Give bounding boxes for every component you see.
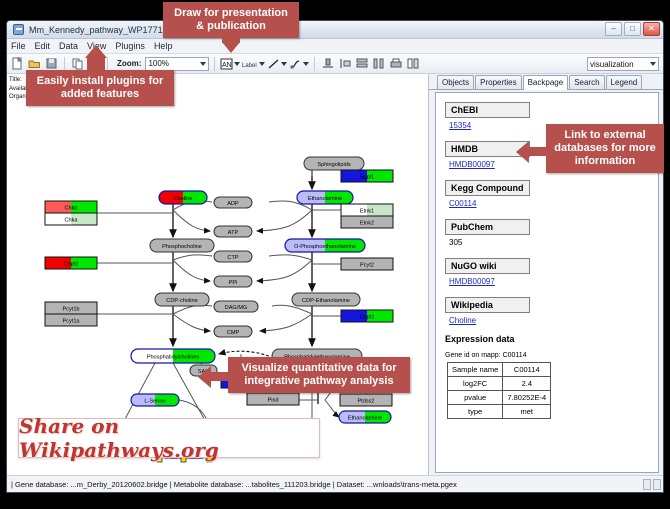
node-label: CDP-Ethanolamine — [302, 298, 350, 304]
maximize-button[interactable]: □ — [624, 22, 641, 36]
node-label: L-Serine — [144, 399, 165, 405]
db-section-value: 305 — [449, 238, 649, 247]
table-cell-key: log2FC — [448, 377, 503, 391]
tab-legend[interactable]: Legend — [606, 75, 643, 89]
zoom-combobox[interactable]: 100% — [145, 57, 209, 71]
node-label: Chkb — [64, 206, 77, 212]
expression-table: Sample nameC00114log2FC2.4pvalue7.80252E… — [447, 362, 551, 419]
zoom-value: 100% — [148, 59, 168, 68]
side-tabs: Objects Properties Backpage Search Legen… — [429, 74, 663, 90]
node-label: Chka — [64, 218, 78, 224]
node-label: Ethanolamine — [348, 416, 382, 422]
pathway-metabolite-node[interactable]: Sphingolipids — [304, 157, 364, 170]
distribute-icon[interactable] — [371, 56, 386, 71]
toolbar-separator-3 — [214, 57, 215, 71]
pathway-gene-node[interactable]: Pcyt1a — [45, 314, 97, 326]
callout-plugins-arrow — [85, 45, 107, 58]
db-section-header: Wikipedia — [445, 297, 530, 313]
pathway-gene-node[interactable]: Pcyt1b — [45, 302, 97, 314]
pathway-metabolite-node[interactable]: Ethanolamine — [339, 411, 391, 423]
open-icon[interactable] — [27, 56, 42, 71]
chevron-down-icon — [650, 62, 656, 66]
db-section-link[interactable]: C00114 — [449, 199, 649, 208]
app-icon — [13, 24, 24, 35]
db-section-header: PubChem — [445, 219, 530, 235]
screenshot-root: Mm_Kennedy_pathway_WP1771_45176.gpml – □… — [0, 0, 670, 509]
menu-item-data[interactable]: Data — [59, 41, 78, 51]
callout-plugins: Easily install plugins for added feature… — [26, 70, 174, 106]
menu-item-plugins[interactable]: Plugins — [115, 41, 145, 51]
node-label: DAG/MG — [225, 305, 248, 311]
gene-id-on-mapp: Gene id on mapp: C00114 — [445, 352, 649, 359]
table-row: pvalue7.80252E-4 — [448, 391, 551, 405]
visualization-combobox[interactable]: visualization — [587, 57, 659, 71]
pathway-metabolite-node[interactable]: O-Phosphoethanolamine — [285, 239, 365, 252]
pathway-gene-node[interactable]: Sgpl1 — [341, 170, 393, 182]
chevron-down-icon — [259, 62, 265, 66]
status-bar: | Gene database: ...m_Derby_20120602.bri… — [7, 475, 663, 492]
status-box-2 — [653, 479, 661, 490]
pathway-gene-node[interactable]: Chka — [45, 213, 97, 225]
pathway-metabolite-node[interactable]: Choline — [159, 191, 207, 204]
status-indicators — [643, 479, 661, 490]
tab-search[interactable]: Search — [569, 75, 604, 89]
stack-icon[interactable] — [354, 56, 369, 71]
node-label: Pcyt2 — [360, 263, 374, 269]
callout-plugins-stem — [87, 57, 105, 71]
table-cell-value: 7.80252E-4 — [503, 391, 551, 405]
new-icon[interactable] — [10, 56, 25, 71]
pathway-gene-node[interactable]: Cept1 — [341, 310, 393, 322]
pathway-metabolite-node[interactable]: ATP — [214, 226, 252, 237]
svg-text:Label: Label — [242, 63, 257, 69]
pathway-gene-node[interactable]: Pisd — [247, 393, 299, 405]
node-label: Pcyt1b — [62, 307, 79, 313]
node-label: CTP — [227, 255, 238, 261]
align-icon[interactable] — [320, 56, 335, 71]
pathway-metabolite-node[interactable]: ADP — [214, 197, 252, 208]
table-cell-value: C00114 — [503, 363, 551, 377]
pathway-gene-node[interactable]: Etnk1 — [341, 204, 393, 216]
status-box-1 — [643, 479, 651, 490]
node-label: O-Phosphoethanolamine — [294, 244, 356, 250]
node-label: Choline — [174, 196, 193, 202]
node-label: CMP — [227, 330, 240, 336]
db-section-link[interactable]: HMDB00097 — [449, 277, 649, 286]
table-cell-value: 2.4 — [503, 377, 551, 391]
node-label: Chpt1 — [64, 262, 79, 268]
copy-icon[interactable] — [70, 56, 85, 71]
pathway-gene-node[interactable]: Chpt1 — [45, 257, 97, 269]
table-row: Sample nameC00114 — [448, 363, 551, 377]
callout-visualize-arrow — [198, 366, 211, 388]
print-icon[interactable] — [388, 56, 403, 71]
tab-properties[interactable]: Properties — [475, 75, 521, 89]
table-cell-key: pvalue — [448, 391, 503, 405]
label-icon[interactable]: Label — [242, 59, 265, 69]
node-label: Phosphatidylcholines — [147, 355, 200, 361]
pathway-gene-node[interactable]: Etnk2 — [341, 216, 393, 228]
node-label: Sgpl1 — [360, 175, 374, 181]
callout-visualize-stem — [210, 372, 230, 381]
pathway-metabolite-node[interactable]: CDP-choline — [155, 293, 209, 306]
chevron-down-icon — [303, 62, 309, 66]
title-bar: Mm_Kennedy_pathway_WP1771_45176.gpml – □… — [7, 21, 663, 39]
callout-draw-arrow — [222, 42, 240, 53]
callout-links-arrow — [516, 141, 529, 163]
pathway-metabolite-node[interactable]: CMP — [214, 326, 252, 337]
visualization-value: visualization — [590, 60, 634, 69]
pathway-metabolite-node[interactable]: DAG/MG — [214, 301, 258, 312]
table-cell-key: type — [448, 405, 503, 419]
node-label: Etnk2 — [360, 221, 374, 227]
node-label: Sphingolipids — [317, 162, 350, 168]
line-icon[interactable] — [267, 58, 287, 70]
toolbar-separator-2 — [107, 57, 108, 71]
pathway-metabolite-node[interactable]: L-Serine — [131, 394, 179, 406]
node-label: ADP — [227, 201, 239, 207]
node-label: ATP — [228, 230, 239, 236]
db-section-header: NuGO wiki — [445, 258, 530, 274]
node-label: CDP-choline — [166, 298, 197, 304]
pathway-metabolite-node[interactable]: CDP-Ethanolamine — [292, 293, 360, 306]
node-label: Cept1 — [360, 315, 375, 321]
pathway-gene-node[interactable]: Pcyt2 — [341, 258, 393, 270]
node-label: Ethanolamine — [308, 196, 342, 202]
save-icon[interactable] — [44, 56, 59, 71]
node-label: PPi — [229, 280, 238, 286]
pathway-gene-node[interactable]: Chkb — [45, 201, 97, 213]
expression-data-title: Expression data — [445, 334, 649, 344]
menu-item-edit[interactable]: Edit — [35, 41, 51, 51]
anchor-icon[interactable] — [289, 58, 309, 70]
tab-backpage[interactable]: Backpage — [523, 75, 569, 90]
toolbar-separator — [64, 57, 65, 71]
window-controls: – □ ✕ — [605, 22, 660, 36]
zoom-label: Zoom: — [117, 59, 141, 68]
menu-item-help[interactable]: Help — [154, 41, 173, 51]
table-cell-key: Sample name — [448, 363, 503, 377]
tab-objects[interactable]: Objects — [437, 75, 474, 89]
chevron-down-icon — [200, 62, 206, 66]
svg-text:AN: AN — [222, 62, 232, 69]
datanode-icon[interactable]: AN — [220, 58, 240, 70]
callout-visualize: Visualize quantitative data for integrat… — [228, 357, 410, 393]
db-section-header: ChEBI — [445, 102, 530, 118]
db-section-header: Kegg Compound — [445, 180, 530, 196]
callout-draw: Draw for presentation & publication — [163, 2, 299, 38]
node-label: Etnk1 — [360, 209, 374, 215]
pathway-metabolite-node[interactable]: Ethanolamine — [297, 191, 353, 204]
callout-links: Link to external databases for more info… — [546, 124, 664, 173]
layout-icon[interactable] — [405, 56, 420, 71]
node-label: Phosphocholine — [162, 244, 202, 250]
db-section-link[interactable]: Choline — [449, 316, 649, 325]
node-label: Ptdss2 — [357, 399, 374, 405]
table-row: log2FC2.4 — [448, 377, 551, 391]
pathway-metabolite-node[interactable]: Phosphatidylcholines — [131, 349, 215, 363]
chevron-down-icon — [234, 62, 240, 66]
table-row: typemet — [448, 405, 551, 419]
pathway-metabolite-node[interactable]: PPi — [214, 276, 252, 287]
chevron-down-icon — [281, 62, 287, 66]
group-icon[interactable] — [337, 56, 352, 71]
minimize-button[interactable]: – — [605, 22, 622, 36]
callout-share: Share on Wikipathways.org — [18, 418, 320, 458]
pathway-gene-node[interactable]: Ptdss2 — [340, 394, 392, 406]
toolbar-separator-4 — [314, 57, 315, 71]
node-label: Pisd — [268, 398, 279, 404]
pathway-metabolite-node[interactable]: Phosphocholine — [150, 239, 214, 252]
callout-share-text: Share on Wikipathways.org — [19, 414, 319, 462]
callout-links-stem — [528, 147, 548, 156]
status-text: | Gene database: ...m_Derby_20120602.bri… — [7, 480, 457, 489]
table-cell-value: met — [503, 405, 551, 419]
node-label: Pcyt1a — [62, 319, 80, 325]
menu-item-file[interactable]: File — [11, 41, 26, 51]
pathway-metabolite-node[interactable]: CTP — [214, 251, 252, 262]
close-button[interactable]: ✕ — [643, 22, 660, 36]
